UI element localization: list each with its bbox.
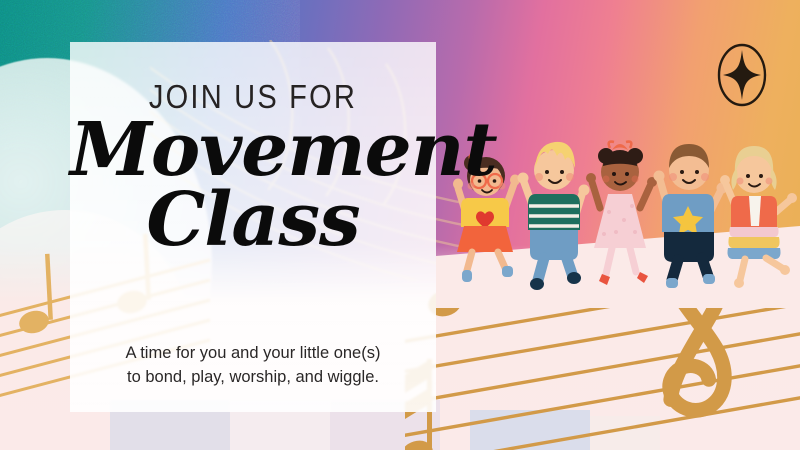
title-line-1: Movement: [70, 116, 436, 184]
subtext-block: A time for you and your little one(s) to…: [78, 342, 428, 390]
four-point-star-icon: [723, 50, 761, 100]
compass-star-emblem-logo[interactable]: [716, 42, 768, 108]
poster-canvas: JOIN US FOR Movement Class A time for yo…: [0, 0, 800, 450]
subtext-line-1: A time for you and your little one(s): [78, 342, 428, 366]
title-line-2: Class: [70, 186, 436, 254]
text-card: JOIN US FOR Movement Class A time for yo…: [70, 42, 436, 412]
subtext-line-2: to bond, play, worship, and wiggle.: [78, 366, 428, 390]
page-title: Movement Class: [70, 116, 436, 254]
